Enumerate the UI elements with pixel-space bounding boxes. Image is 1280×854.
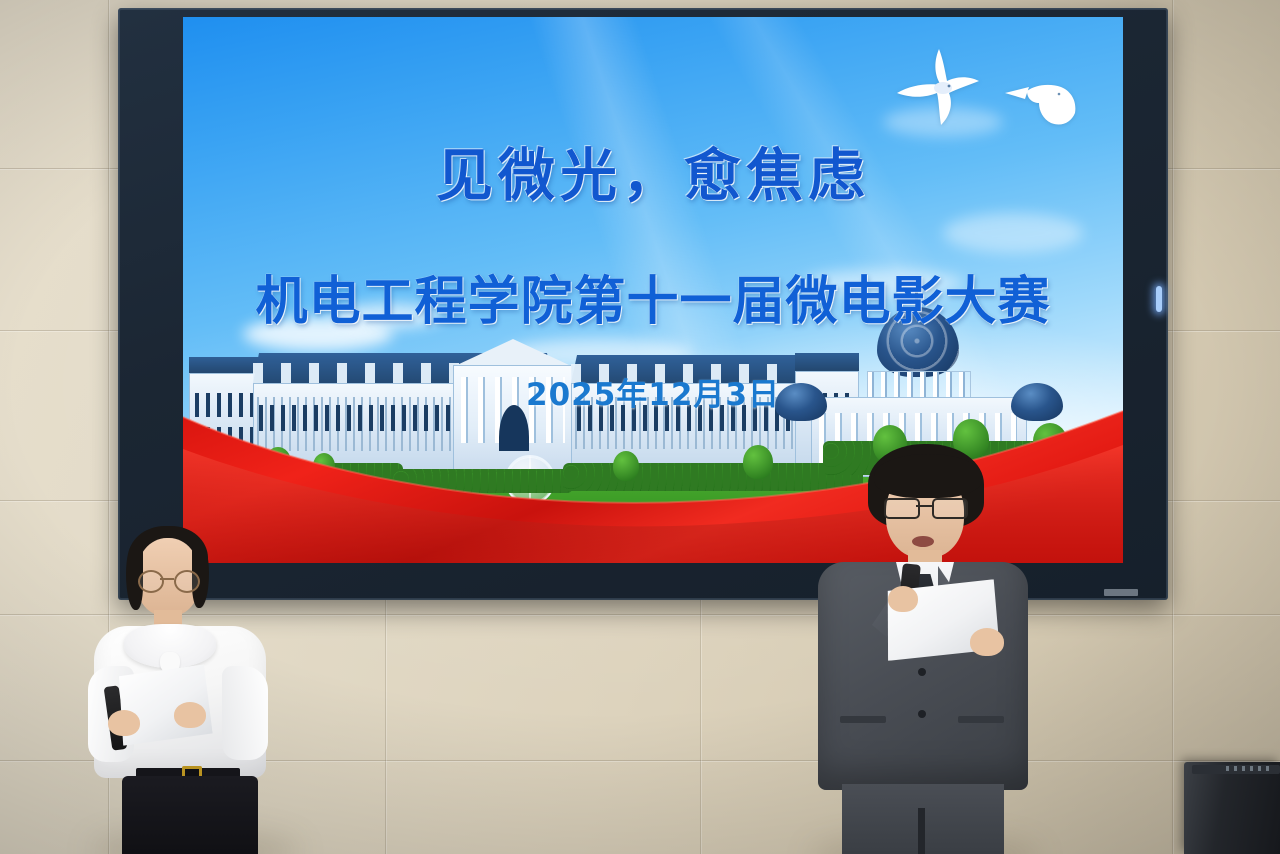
glasses-icon bbox=[884, 498, 966, 516]
hand-right bbox=[970, 628, 1004, 656]
slide-date: 2025年12月3日 bbox=[183, 369, 1123, 414]
slide-subtitle: 机电工程学院第十一届微电影大赛 bbox=[183, 259, 1123, 334]
portico-pediment bbox=[457, 339, 569, 365]
dove-small-icon bbox=[1001, 69, 1085, 131]
power-led-icon bbox=[1156, 286, 1162, 312]
trouser-gap bbox=[918, 808, 925, 854]
jacket-button bbox=[918, 668, 926, 676]
speaker-vent-holes bbox=[1226, 766, 1272, 771]
skirt bbox=[122, 776, 258, 854]
mouth bbox=[912, 536, 934, 547]
glasses-icon bbox=[137, 570, 199, 590]
hand-left bbox=[108, 710, 140, 736]
jacket-pocket-right bbox=[958, 716, 1004, 723]
cloud bbox=[943, 213, 1083, 253]
presenter-male bbox=[800, 440, 1050, 854]
display-brand-tag bbox=[1104, 589, 1138, 596]
screenshot-root: 见微光，愈焦虑 机电工程学院第十一届微电影大赛 2025年12月3日 bbox=[0, 0, 1280, 854]
slide-title: 见微光，愈焦虑 bbox=[183, 130, 1123, 212]
stage-speaker-cabinet bbox=[1184, 762, 1280, 854]
hand-right bbox=[174, 702, 206, 728]
jacket-button bbox=[918, 710, 926, 718]
jacket-pocket-left bbox=[840, 716, 886, 723]
sleeve-right bbox=[222, 666, 268, 760]
hand-left bbox=[888, 586, 918, 612]
dove-large-icon bbox=[883, 41, 993, 127]
hair-fringe bbox=[874, 454, 982, 498]
presenter-female bbox=[80, 520, 310, 854]
